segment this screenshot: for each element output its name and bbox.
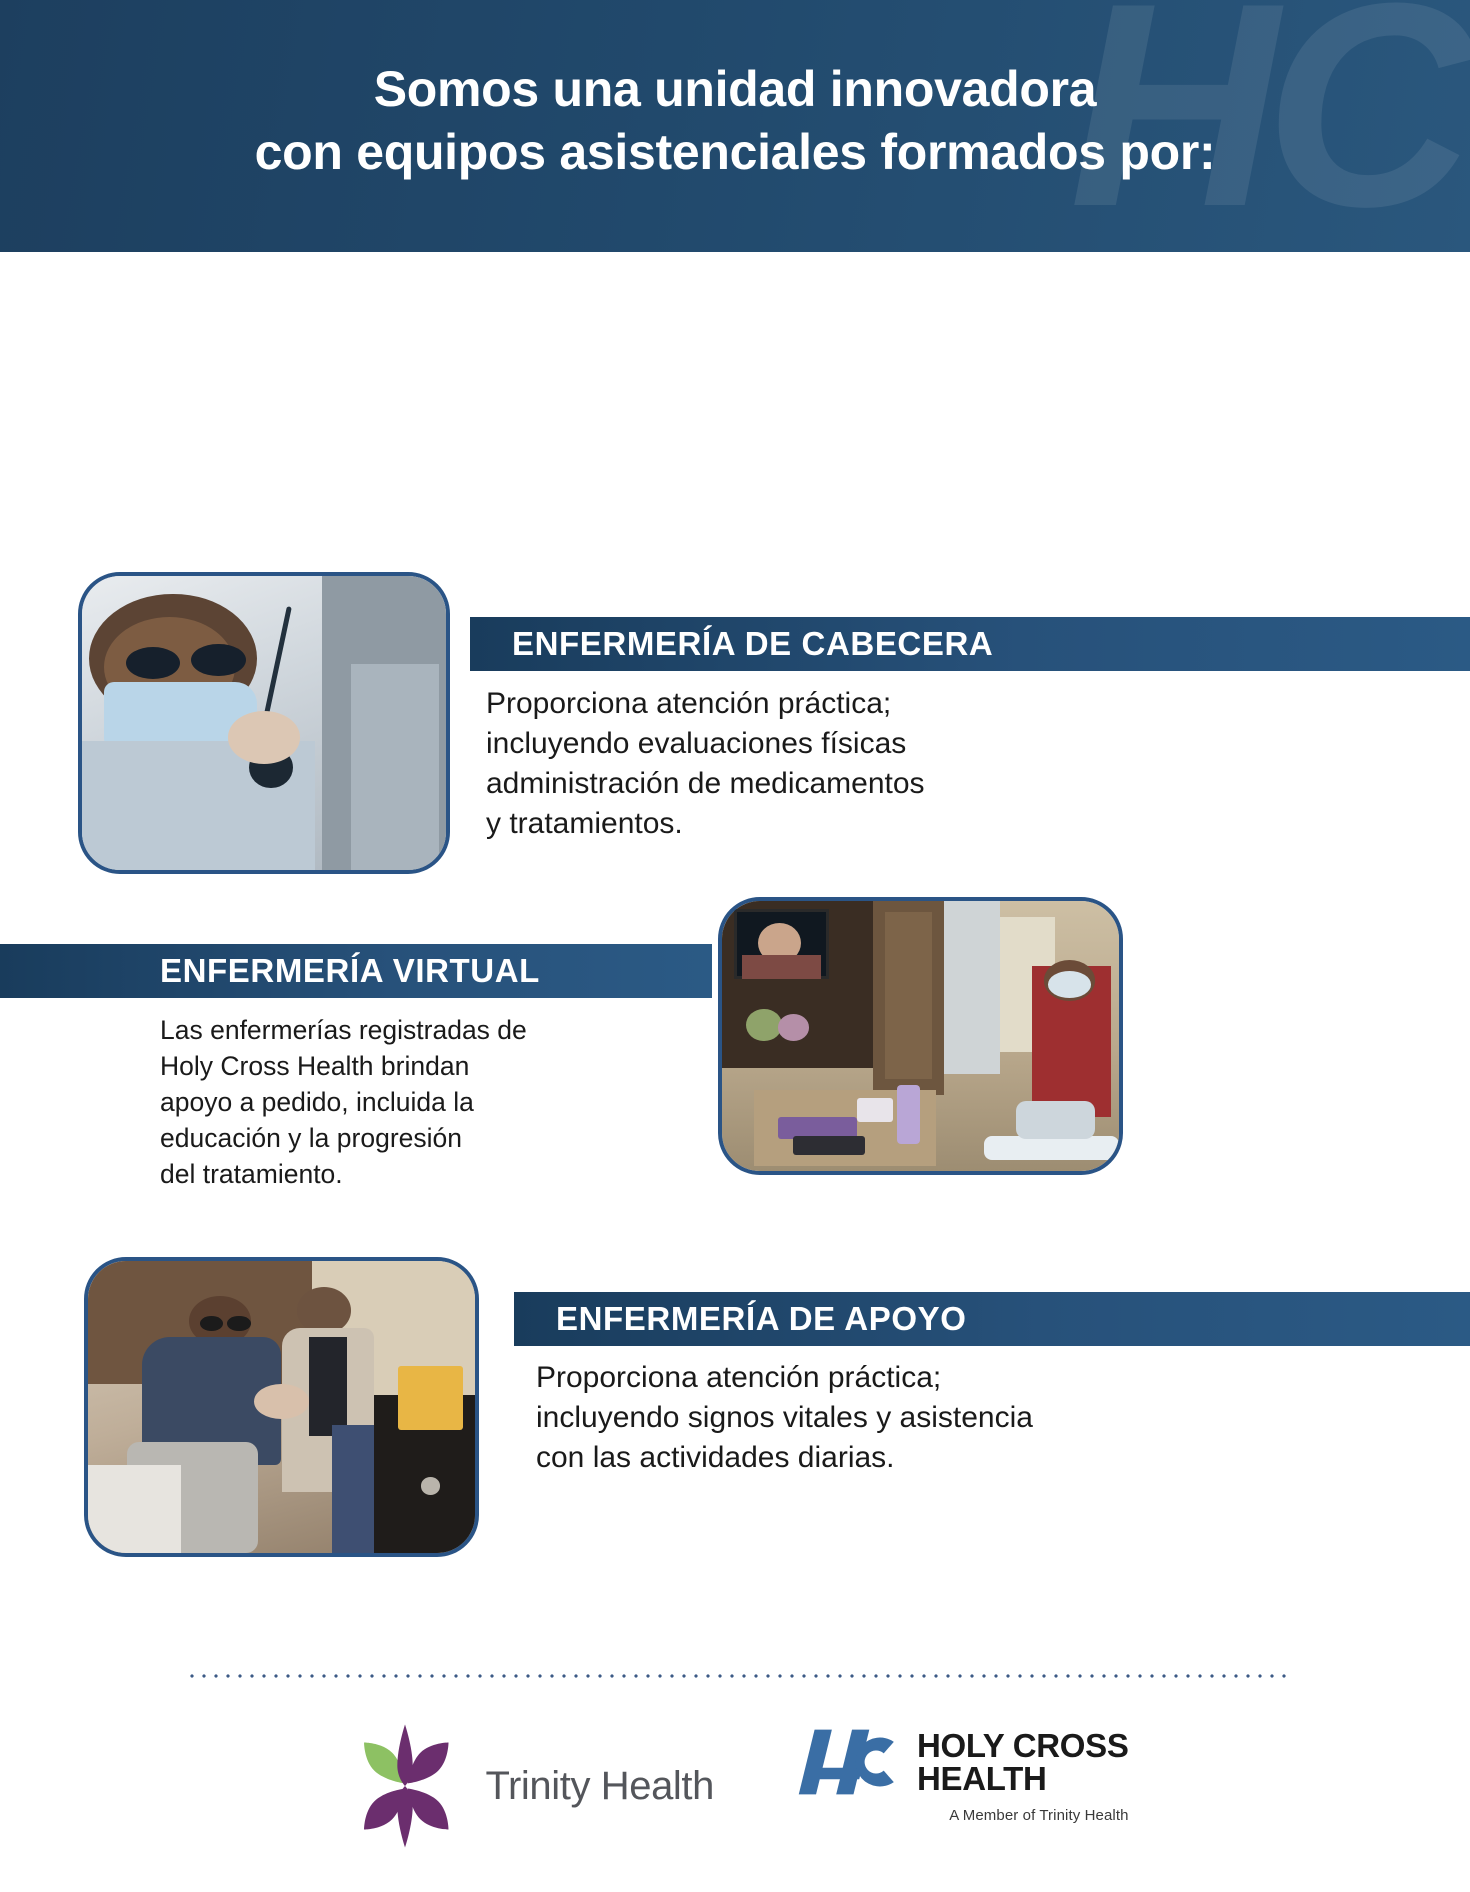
page-title-line1: Somos una unidad innovadora bbox=[374, 61, 1097, 117]
holy-cross-wordmark-line2: HEALTH bbox=[917, 1762, 1129, 1795]
banner-bedside-nursing: ENFERMERÍA DE CABECERA bbox=[470, 617, 1470, 671]
body-line: del tratamiento. bbox=[160, 1156, 660, 1192]
photo-virtual-nursing bbox=[718, 897, 1123, 1175]
holy-cross-health-logo: HOLY CROSS HEALTH A Member of Trinity He… bbox=[792, 1714, 1129, 1824]
banner-virtual-nursing: ENFERMERÍA VIRTUAL bbox=[0, 944, 712, 998]
body-line: y tratamientos. bbox=[486, 804, 1126, 844]
page-header: HC Somos una unidad innovadora con equip… bbox=[0, 0, 1470, 252]
body-support-nursing: Proporciona atención práctica; incluyend… bbox=[536, 1358, 1236, 1478]
body-line: educación y la progresión bbox=[160, 1120, 660, 1156]
banner-label: ENFERMERÍA DE APOYO bbox=[556, 1300, 967, 1338]
footer-logos: Trinity Health HOLY CROSS HEALTH A Membe… bbox=[0, 1714, 1470, 1850]
holy-cross-wordmark-line1: HOLY CROSS bbox=[917, 1729, 1129, 1762]
hc-monogram-icon bbox=[792, 1726, 902, 1798]
body-line: Las enfermerías registradas de bbox=[160, 1012, 660, 1048]
body-line: administración de medicamentos bbox=[486, 764, 1126, 804]
infographic-page: HC Somos una unidad innovadora con equip… bbox=[0, 0, 1470, 1892]
banner-support-nursing: ENFERMERÍA DE APOYO bbox=[514, 1292, 1470, 1346]
body-line: apoyo a pedido, incluida la bbox=[160, 1084, 660, 1120]
holy-cross-tagline: A Member of Trinity Health bbox=[949, 1807, 1128, 1824]
footer-divider bbox=[186, 1674, 1286, 1678]
banner-label: ENFERMERÍA DE CABECERA bbox=[512, 625, 993, 663]
body-line: con las actividades diarias. bbox=[536, 1438, 1236, 1478]
body-line: Holy Cross Health brindan bbox=[160, 1048, 660, 1084]
body-line: Proporciona atención práctica; bbox=[486, 684, 1126, 724]
page-title: Somos una unidad innovadora con equipos … bbox=[0, 0, 1470, 184]
photo-support-nursing bbox=[84, 1257, 479, 1557]
page-title-line2: con equipos asistenciales formados por: bbox=[0, 121, 1470, 184]
banner-label: ENFERMERÍA VIRTUAL bbox=[160, 952, 540, 990]
trinity-health-logo: Trinity Health bbox=[341, 1714, 714, 1850]
body-line: incluyendo evaluaciones físicas bbox=[486, 724, 1126, 764]
body-virtual-nursing: Las enfermerías registradas de Holy Cros… bbox=[160, 1012, 660, 1192]
body-bedside-nursing: Proporciona atención práctica; incluyend… bbox=[486, 684, 1126, 844]
trinity-health-wordmark: Trinity Health bbox=[485, 1764, 714, 1809]
body-line: incluyendo signos vitales y asistencia bbox=[536, 1398, 1236, 1438]
trinity-health-flower-icon bbox=[341, 1722, 469, 1850]
holy-cross-wordmark: HOLY CROSS HEALTH bbox=[917, 1729, 1129, 1795]
photo-bedside-nursing bbox=[78, 572, 450, 874]
body-line: Proporciona atención práctica; bbox=[536, 1358, 1236, 1398]
